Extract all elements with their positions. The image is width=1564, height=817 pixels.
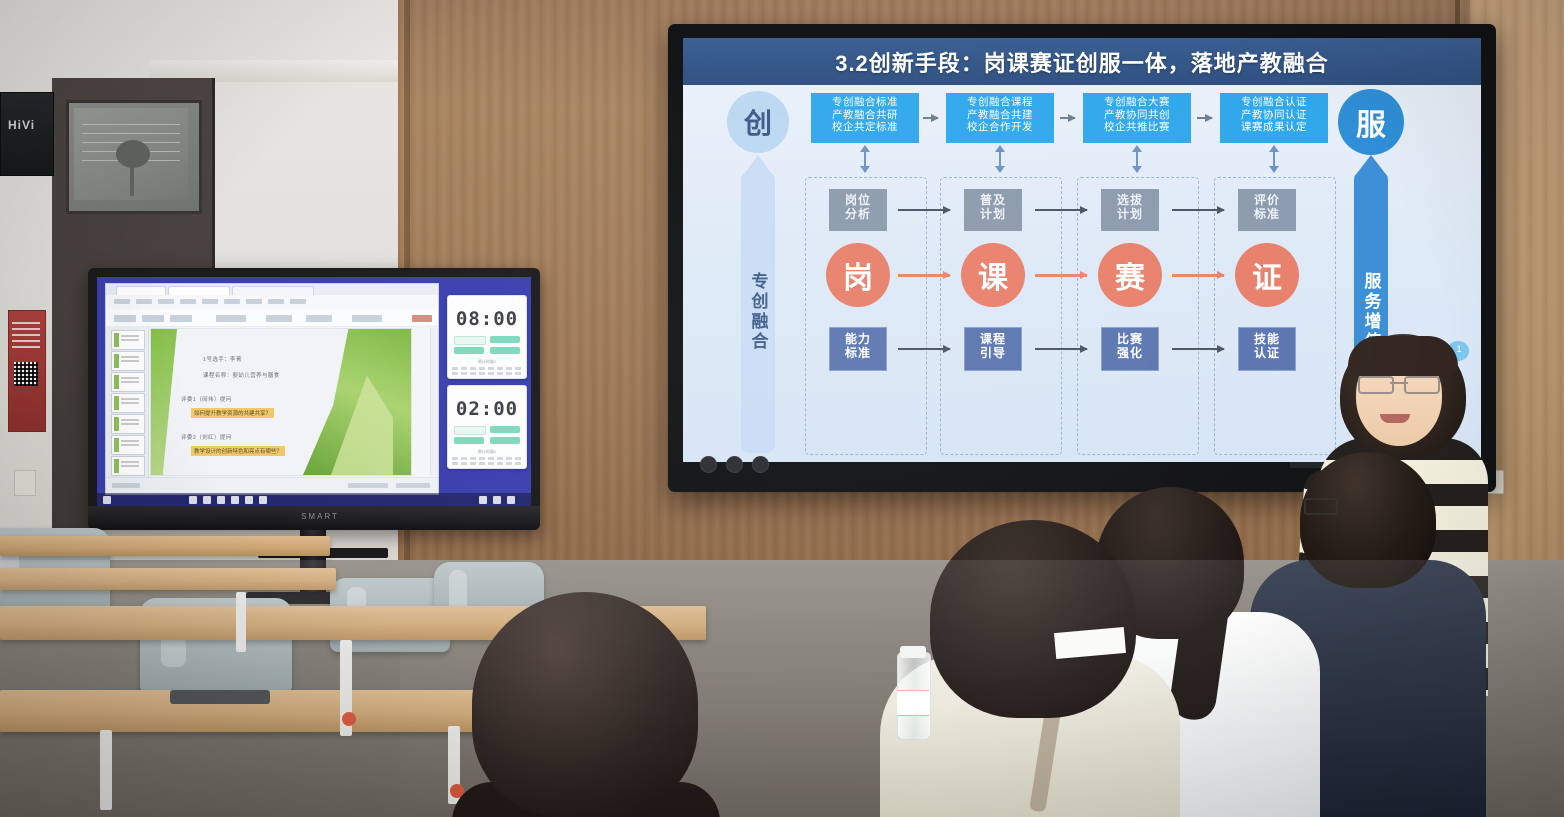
timer-1-start-button[interactable] — [490, 336, 520, 343]
taskbar-app-icon[interactable] — [259, 496, 267, 504]
table-leg-knob — [342, 712, 356, 726]
timer-2-hint-line — [452, 457, 522, 460]
statusbar-chip[interactable] — [348, 483, 388, 488]
toolbar-chip[interactable] — [352, 315, 382, 322]
top-box-2-line1: 专创融合课程 — [948, 96, 1052, 109]
timer-1-hint-line — [452, 367, 522, 370]
top-box-2-line2: 产教融合共建 — [948, 109, 1052, 122]
upper-arrow-3-4 — [1172, 209, 1224, 211]
display-button-2[interactable] — [726, 456, 743, 473]
system-tray-icon[interactable] — [507, 496, 515, 504]
presenter-fringe — [1348, 336, 1458, 376]
slide-thumbnail[interactable] — [111, 456, 145, 476]
powerpoint-slide-canvas[interactable]: 1号选手：李菁 课程名称：婴幼儿营养与膳食 评委1（闵伟）提问 如何提升教学资源… — [150, 328, 412, 476]
vertical-double-arrow-2 — [999, 151, 1001, 167]
taskbar-app-icon[interactable] — [189, 496, 197, 504]
monitor-brand-label: SMART — [290, 512, 350, 522]
attendee-navy-polo-head — [1300, 452, 1436, 588]
top-box-1-line3: 校企共定标准 — [813, 121, 917, 134]
ribbon-tabs[interactable] — [106, 295, 438, 310]
center-circle-4: 证 — [1235, 243, 1299, 307]
slide-thumbnail[interactable] — [111, 414, 145, 434]
system-tray-icon[interactable] — [493, 496, 501, 504]
ribbon-tab-chip[interactable] — [114, 299, 130, 304]
toolbar-chip[interactable] — [142, 315, 164, 322]
display-control-buttons[interactable] — [700, 456, 790, 472]
top-arrow-2-3 — [1060, 117, 1075, 119]
vertical-double-arrow-3 — [1136, 151, 1138, 167]
windows-taskbar[interactable] — [97, 493, 531, 507]
table — [0, 568, 336, 590]
top-box-3: 专创融合大赛 产教协同共创 校企共推比赛 — [1083, 93, 1191, 143]
presenter-glasses — [1358, 376, 1440, 390]
center-circle-1: 岗 — [826, 243, 890, 307]
timer-card-1[interactable]: 08:00 倒计时器1 — [447, 295, 527, 379]
poster-text-lines — [12, 322, 40, 348]
slide-title-bar: 3.2创新手段：岗课赛证创服一体，落地产教融合 — [683, 38, 1481, 85]
timer-1-caption: 倒计时器1 — [448, 359, 526, 365]
timer-2-field[interactable] — [454, 426, 486, 435]
top-box-4-line2: 产教协同认证 — [1222, 109, 1326, 122]
left-pillar-circle: 创 — [727, 91, 789, 153]
slide-title: 3.2创新手段：岗课赛证创服一体，落地产教融合 — [835, 46, 1329, 78]
qr-code-icon — [14, 362, 38, 386]
top-box-3-line2: 产教协同共创 — [1085, 109, 1189, 122]
table-leg — [236, 592, 246, 652]
timer-1-pause-button[interactable] — [454, 347, 484, 354]
toolbar-chip[interactable] — [114, 315, 136, 322]
upper-row-box-3: 选拔计划 — [1101, 189, 1159, 231]
center-circle-2-label: 课 — [978, 253, 1008, 297]
lower-arrow-3-4 — [1172, 348, 1224, 350]
center-circle-1-label: 岗 — [843, 253, 873, 297]
left-monitor-screen[interactable]: 1号选手：李菁 课程名称：婴幼儿营养与膳食 评委1（闵伟）提问 如何提升教学资源… — [97, 277, 531, 507]
ribbon-tab-chip[interactable] — [224, 299, 240, 304]
ribbon-tab-chip[interactable] — [158, 299, 174, 304]
taskbar-app-icon[interactable] — [217, 496, 225, 504]
table — [0, 536, 330, 556]
timer-2-caption: 倒计时器2 — [448, 449, 526, 455]
left-pillar-bar: 专创融合 — [741, 171, 775, 453]
slide-thumbnail[interactable] — [111, 435, 145, 455]
upper-row-box-1: 岗位分析 — [829, 189, 887, 231]
powerpoint-window[interactable]: 1号选手：李菁 课程名称：婴幼儿营养与膳食 评委1（闵伟）提问 如何提升教学资源… — [105, 283, 439, 495]
system-tray-icon[interactable] — [479, 496, 487, 504]
attendee-front-left-head — [472, 592, 698, 817]
left-pillar-bar-label: 专创融合 — [746, 272, 771, 352]
slide-line-2: 课程名称：婴幼儿营养与膳食 — [203, 371, 280, 379]
lower-arrow-2-3 — [1035, 348, 1087, 350]
top-box-4-line3: 课赛成果认定 — [1222, 121, 1326, 134]
top-box-1-line2: 产教融合共研 — [813, 109, 917, 122]
table-leg — [100, 730, 112, 810]
bottle-cap — [900, 646, 926, 658]
lower-arrow-1-2 — [898, 348, 950, 350]
upper-row-box-4: 评价标准 — [1238, 189, 1296, 231]
judge-2-question: 教学设计的创新特色和亮点有哪些？ — [191, 446, 285, 456]
center-arrow-1-2 — [898, 274, 950, 277]
attendee-glasses — [1304, 498, 1338, 515]
upper-row-box-2: 普及计划 — [964, 189, 1022, 231]
timer-2-hint-line — [452, 462, 522, 465]
toolbar-chip[interactable] — [170, 315, 192, 322]
right-pillar-circle: 服 — [1338, 89, 1404, 155]
center-circle-3: 赛 — [1098, 243, 1162, 307]
presenter-mouth — [1380, 414, 1410, 423]
window-tab-1[interactable] — [116, 286, 166, 296]
ribbon-toolbar[interactable] — [106, 309, 438, 327]
wall-outlet[interactable] — [14, 470, 36, 496]
lower-row-box-4: 技能认证 — [1238, 327, 1296, 371]
slide-thumbnail-panel[interactable] — [106, 326, 149, 478]
taskbar-app-icon[interactable] — [203, 496, 211, 504]
toolbar-chip[interactable] — [216, 315, 246, 322]
taskbar-app-icon[interactable] — [245, 496, 253, 504]
top-box-1-line1: 专创融合标准 — [813, 96, 917, 109]
slide-thumbnail[interactable] — [111, 330, 145, 350]
top-box-2: 专创融合课程 产教融合共建 校企合作开发 — [946, 93, 1054, 143]
lower-row-box-2: 课程引导 — [964, 327, 1022, 371]
glasses-left-lens — [1358, 376, 1394, 394]
timer-2-value: 02:00 — [448, 398, 526, 420]
center-arrow-2-3 — [1035, 274, 1087, 277]
upper-arrow-2-3 — [1035, 209, 1087, 211]
timer-1-field[interactable] — [454, 336, 486, 345]
top-box-2-line3: 校企合作开发 — [948, 121, 1052, 134]
ribbon-tab-chip[interactable] — [290, 299, 306, 304]
toolbar-chip[interactable] — [412, 315, 432, 322]
center-circle-4-label: 证 — [1252, 253, 1282, 297]
top-box-3-line3: 校企共推比赛 — [1085, 121, 1189, 134]
left-pillar-circle-label: 创 — [744, 102, 772, 142]
taskbar-app-icon[interactable] — [231, 496, 239, 504]
slide-thumbnail[interactable] — [111, 372, 145, 392]
timer-card-2[interactable]: 02:00 倒计时器2 — [447, 385, 527, 469]
upper-arrow-1-2 — [898, 209, 950, 211]
vertical-double-arrow-4 — [1273, 151, 1275, 167]
powerpoint-statusbar — [106, 477, 438, 494]
top-arrow-3-4 — [1197, 117, 1212, 119]
window-tab-3[interactable] — [232, 286, 314, 296]
center-arrow-3-4 — [1172, 274, 1224, 277]
timer-2-reset-button[interactable] — [490, 437, 520, 444]
speaker-brand-label: HiVi — [8, 118, 48, 134]
timer-1-reset-button[interactable] — [490, 347, 520, 354]
window-tab-2[interactable] — [168, 286, 230, 296]
timer-1-value: 08:00 — [448, 308, 526, 330]
door-window-object-stem — [130, 166, 134, 196]
ribbon-tab-chip[interactable] — [180, 299, 196, 304]
top-box-4-line1: 专创融合认证 — [1222, 96, 1326, 109]
timer-2-start-button[interactable] — [490, 426, 520, 433]
center-circle-3-label: 赛 — [1115, 253, 1145, 297]
ribbon-tab-chip[interactable] — [246, 299, 262, 304]
slide-line-1: 1号选手：李菁 — [203, 355, 242, 363]
attendee-beige-head — [930, 520, 1136, 718]
display-button-1[interactable] — [700, 456, 717, 473]
wall-speaker — [0, 92, 54, 176]
center-circle-2: 课 — [961, 243, 1025, 307]
timer-2-pause-button[interactable] — [454, 437, 484, 444]
statusbar-chip — [112, 483, 140, 488]
ribbon-tab-chip[interactable] — [268, 299, 284, 304]
screenshot-root: HiVi 3.2创新手段：岗课赛证创服一体，落地产教融合 创 专创融合 服 服务… — [0, 0, 1564, 817]
judge-2-label: 评委2（刘红）提问 — [181, 433, 232, 441]
slide-scrollbar[interactable] — [430, 328, 438, 476]
judge-1-question: 如何提升教学资源的共建共享？ — [191, 408, 274, 418]
top-box-4: 专创融合认证 产教协同认证 课赛成果认定 — [1220, 93, 1328, 143]
lower-row-box-3: 比赛强化 — [1101, 327, 1159, 371]
glasses-right-lens — [1404, 376, 1440, 394]
top-box-1: 专创融合标准 产教融合共研 校企共定标准 — [811, 93, 919, 143]
ribbon-tab-chip[interactable] — [202, 299, 218, 304]
slide-thumbnail[interactable] — [111, 351, 145, 371]
right-pillar-circle-label: 服 — [1356, 100, 1386, 144]
bottle-label — [897, 690, 929, 716]
toolbar-chip[interactable] — [266, 315, 292, 322]
chair-base — [170, 690, 270, 704]
start-icon[interactable] — [103, 496, 111, 504]
zoom-slider[interactable] — [396, 483, 430, 488]
display-button-3[interactable] — [752, 456, 769, 473]
timer-1-hint-line — [452, 372, 522, 375]
ribbon-tab-chip[interactable] — [136, 299, 152, 304]
door-window-object — [116, 140, 150, 168]
slide-decor-left — [151, 329, 177, 475]
slide-thumbnail[interactable] — [111, 393, 145, 413]
lower-row-box-1: 能力标准 — [829, 327, 887, 371]
top-arrow-1-2 — [923, 117, 938, 119]
judge-1-label: 评委1（闵伟）提问 — [181, 395, 232, 403]
toolbar-chip[interactable] — [306, 315, 332, 322]
top-box-3-line1: 专创融合大赛 — [1085, 96, 1189, 109]
vertical-double-arrow-1 — [864, 151, 866, 167]
